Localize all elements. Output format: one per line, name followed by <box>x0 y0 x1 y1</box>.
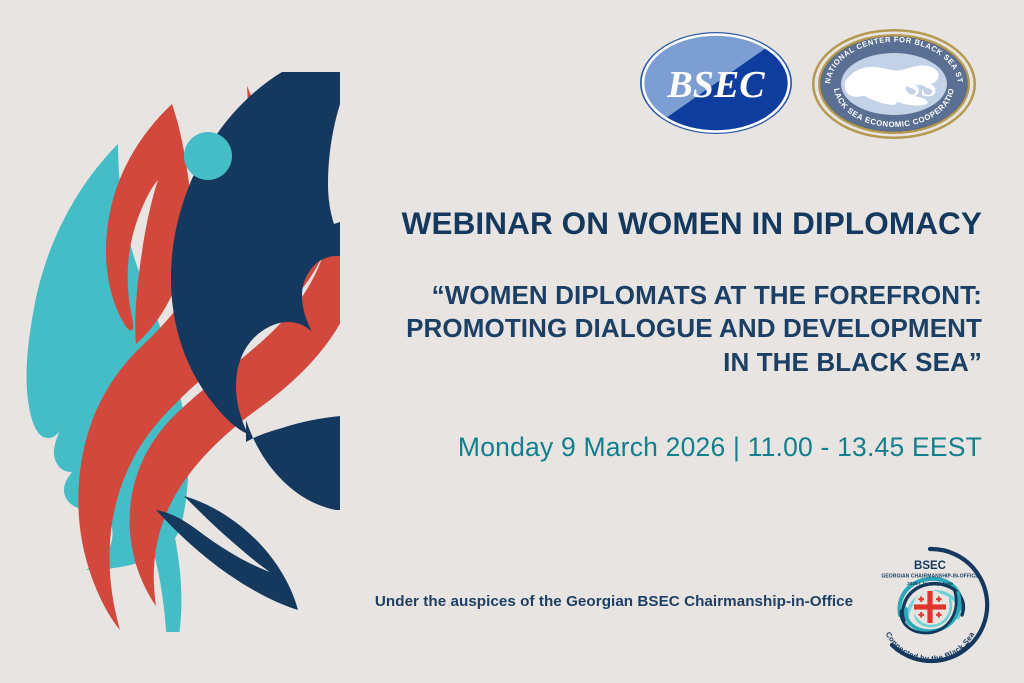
icbss-logo: ICBSS INTERNATIONAL CENTER FOR BLACK SEA… <box>810 26 978 140</box>
webinar-poster: BSEC ICBSS INTERNATIONAL CENTER FOR BLAC… <box>0 0 1024 683</box>
chair-badge-line2: GEORGIAN CHAIRMANSHIP-IN-OFFICE <box>881 574 979 580</box>
icbss-logo-acronym: ICBSS <box>851 71 937 103</box>
women-profiles-artwork <box>0 72 340 632</box>
subtitle-line-1: “WOMEN DIPLOMATS AT THE FOREFRONT: <box>330 279 982 313</box>
teal-circle-accent <box>184 132 232 180</box>
page-title: WEBINAR ON WOMEN IN DIPLOMACY <box>330 206 982 241</box>
logo-row: BSEC ICBSS INTERNATIONAL CENTER FOR BLAC… <box>636 26 978 140</box>
chair-badge-line3: 2026 | January-June <box>907 581 953 587</box>
event-datetime: Monday 9 March 2026 | 11.00 - 13.45 EEST <box>330 432 982 463</box>
chair-badge-title: BSEC <box>914 560 946 572</box>
bsec-logo: BSEC <box>636 27 796 139</box>
bsec-logo-text: BSEC <box>666 64 765 106</box>
georgian-cross-emblem <box>913 590 947 624</box>
text-block: WEBINAR ON WOMEN IN DIPLOMACY “WOMEN DIP… <box>330 206 982 463</box>
chair-badge-arc-text: Connected by the Black Sea <box>884 630 977 663</box>
auspices-note: Under the auspices of the Georgian BSEC … <box>372 593 856 610</box>
page-subtitle: “WOMEN DIPLOMATS AT THE FOREFRONT: PROMO… <box>330 279 982 380</box>
subtitle-line-2: PROMOTING DIALOGUE AND DEVELOPMENT <box>330 312 982 346</box>
chairmanship-badge: BSEC GEORGIAN CHAIRMANSHIP-IN-OFFICE 202… <box>866 541 994 669</box>
subtitle-line-3: IN THE BLACK SEA” <box>330 346 982 380</box>
